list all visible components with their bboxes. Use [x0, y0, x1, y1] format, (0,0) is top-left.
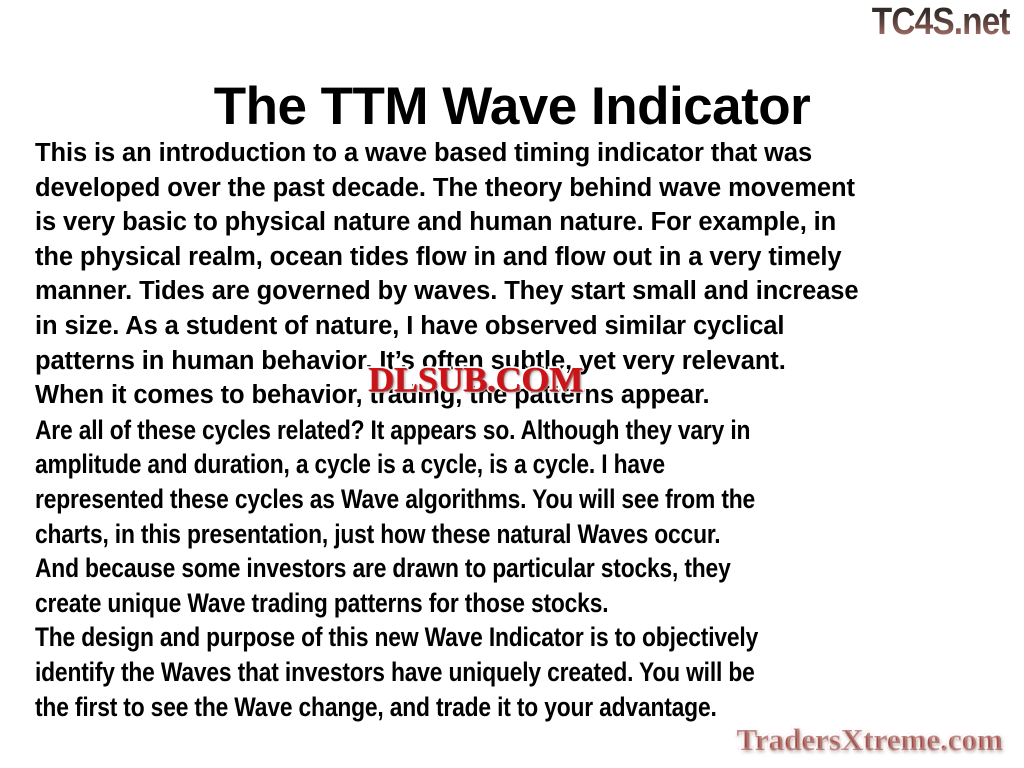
body-line: create unique Wave trading patterns for …: [35, 586, 848, 621]
body-line: And because some investors are drawn to …: [35, 551, 848, 586]
body-line: charts, in this presentation, just how t…: [35, 517, 848, 552]
body-line: Are all of these cycles related? It appe…: [35, 413, 848, 448]
tc4s-brand-logo: TC4S.net: [872, 2, 1010, 42]
body-line: in size. As a student of nature, I have …: [35, 309, 997, 344]
body-line: This is an introduction to a wave based …: [35, 136, 997, 171]
body-line: amplitude and duration, a cycle is a cyc…: [35, 447, 848, 482]
dlsub-watermark: DLSUB.COM: [368, 362, 583, 397]
body-line: identify the Waves that investors have u…: [35, 655, 848, 690]
body-line: the physical realm, ocean tides flow in …: [35, 240, 997, 275]
body-line: the first to see the Wave change, and tr…: [35, 690, 848, 725]
slide-body-text: This is an introduction to a wave based …: [35, 136, 997, 724]
tradersxtreme-watermark-text: TradersXtreme.com: [735, 721, 1002, 756]
body-line: developed over the past decade. The theo…: [35, 171, 997, 206]
body-line: The design and purpose of this new Wave …: [35, 620, 848, 655]
page-title: The TTM Wave Indicator: [0, 76, 1024, 138]
presentation-slide: TC4S.net The TTM Wave Indicator This is …: [0, 0, 1024, 768]
tradersxtreme-watermark: TradersXtreme.com: [735, 722, 1002, 756]
body-line: manner. Tides are governed by waves. The…: [35, 274, 997, 309]
body-line: is very basic to physical nature and hum…: [35, 205, 997, 240]
body-line: represented these cycles as Wave algorit…: [35, 482, 848, 517]
